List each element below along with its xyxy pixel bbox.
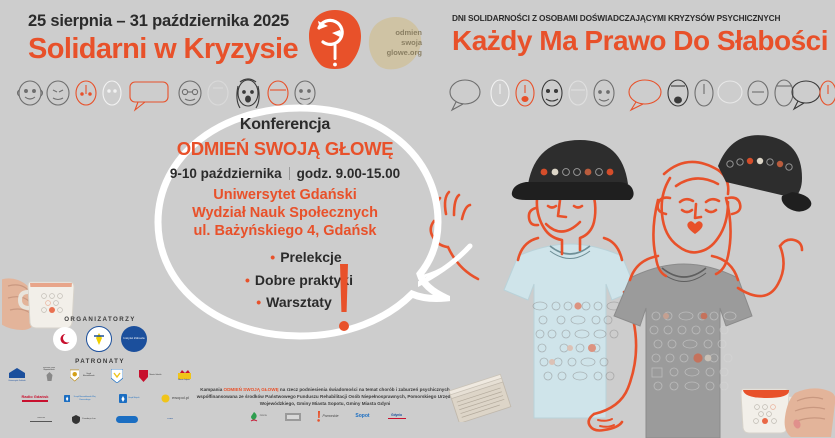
woman-head bbox=[630, 162, 740, 280]
patron-logo: ewopol.pl bbox=[160, 394, 190, 403]
list-item: Warsztaty bbox=[160, 291, 410, 314]
patron-logo: Urząd Miejski bbox=[112, 394, 146, 403]
funding-logo-text: Pomorskie bbox=[322, 415, 338, 419]
patron-logo: Urząd Marszałkowski bbox=[70, 367, 96, 384]
funding-logo-text: Gdynia bbox=[391, 414, 402, 418]
list-item: Dobre praktyki bbox=[160, 269, 410, 292]
bubble-kicker: Konferencja bbox=[160, 116, 410, 134]
underline bbox=[22, 400, 48, 402]
patron-logo-text: Urząd Miejski bbox=[128, 397, 139, 399]
logo-line-1: odmien bbox=[370, 28, 422, 38]
funding-part-1: Kampania bbox=[200, 387, 223, 392]
bubble-datetime: 9-10 października godz. 9.00-15.00 bbox=[160, 166, 410, 181]
campaign-dates: 25 sierpnia – 31 października 2025 bbox=[28, 12, 318, 31]
pill-shape bbox=[116, 416, 138, 423]
funding-logos: PFRON Pomorskie Sopot Gdynia bbox=[195, 410, 460, 423]
patron-logo-text: Uniwersytet Gdański bbox=[8, 380, 25, 382]
patrons-logos-row-3: Gazeta Fundacja Lux Portal bbox=[26, 415, 186, 424]
funding-logo: Sopot bbox=[352, 410, 374, 423]
header-slogan: Każdy Ma Prawo Do Słabości bbox=[452, 26, 830, 55]
funding-logo: Gdynia bbox=[385, 410, 409, 423]
patron-logo: Portal bbox=[155, 418, 185, 420]
funding-logo: PFRON bbox=[247, 410, 271, 423]
patron-logo: Uniwersytet Gdański bbox=[6, 367, 28, 384]
header-right: DNI SOLIDARNOŚCI Z OSOBAMI DOŚWIADCZAJĄC… bbox=[452, 13, 830, 55]
divider bbox=[289, 167, 290, 180]
patrons-logos-row-2: Radio Gdańsk Urząd Marszałkowski Woj. Po… bbox=[20, 394, 190, 403]
header-subtitle: DNI SOLIDARNOŚCI Z OSOBAMI DOŚWIADCZAJĄC… bbox=[452, 13, 830, 23]
venue-line-1: Uniwersytet Gdański bbox=[160, 187, 410, 205]
underline bbox=[30, 421, 52, 422]
exclamation-mark-icon bbox=[336, 262, 352, 334]
funding-highlight: ODMIEŃ SWOJĄ GŁOWĘ bbox=[224, 387, 279, 392]
funding-logo bbox=[282, 410, 304, 423]
funding-logo-text: PFRON bbox=[260, 415, 267, 417]
patron-logo: Miasto Gdynia bbox=[172, 367, 196, 384]
man-tshirt bbox=[504, 244, 636, 418]
venue-line-3: ul. Bażyńskiego 4, Gdańsk bbox=[160, 223, 410, 241]
patron-logo-text: ewopol.pl bbox=[172, 396, 189, 400]
patron-logo: Urząd Marszałkowski Woj. Pomorskiego bbox=[64, 394, 98, 403]
campaign-title: Solidarni w Kryzysie bbox=[28, 34, 318, 64]
header-left: 25 sierpnia – 31 października 2025 Solid… bbox=[28, 12, 318, 64]
bubble-venue: Uniwersytet Gdański Wydział Nauk Społecz… bbox=[160, 187, 410, 241]
bubble-time: godz. 9.00-15.00 bbox=[297, 166, 401, 181]
patron-logo-text: Miasto Gdynia bbox=[178, 380, 190, 382]
newspaper-photo bbox=[444, 370, 514, 422]
man-cap bbox=[512, 140, 634, 200]
list-item: Prelekcje bbox=[160, 246, 410, 269]
patron-logo: Miasto Gdańsk bbox=[138, 367, 162, 384]
patron-logo: Radio Gdańsk bbox=[20, 395, 50, 402]
logo-line-3: glowe.org bbox=[370, 48, 422, 58]
patron-logo-text: Gazeta bbox=[37, 417, 45, 420]
hand-holding-mug-right bbox=[735, 375, 835, 438]
patron-logo-text: Miasto Gdańsk bbox=[150, 375, 162, 377]
organizer-logo-text: Instytut Zdrowia bbox=[123, 337, 144, 340]
funding-statement: Kampania ODMIEŃ SWOJĄ GŁOWĘ na rzecz pod… bbox=[190, 386, 460, 407]
logo-line-2: swoja bbox=[370, 38, 422, 48]
patron-logo bbox=[113, 416, 141, 423]
poster-root: 25 sierpnia – 31 października 2025 Solid… bbox=[0, 0, 835, 438]
logo-url-text: odmien swoja glowe.org bbox=[370, 28, 422, 58]
bubble-date: 9-10 października bbox=[170, 166, 282, 181]
patron-logo: Rzecznik Praw Obywatelskich bbox=[38, 367, 60, 384]
woman-cap bbox=[718, 135, 811, 211]
patron-logo: Gazeta bbox=[27, 417, 55, 422]
venue-line-2: Wydział Nauk Społecznych bbox=[160, 205, 410, 223]
organizers-logos: Instytut Zdrowia bbox=[0, 326, 200, 352]
patron-logo: Fundacja Lux bbox=[69, 415, 99, 424]
patrons-label: PATRONATY bbox=[0, 358, 200, 365]
patron-logo-text: Urząd Marszałkowski bbox=[81, 374, 96, 378]
patrons-logos-row-1: Uniwersytet Gdański Rzecznik Praw Obywat… bbox=[6, 367, 196, 384]
patron-logo-text: Radio Gdańsk bbox=[22, 395, 49, 399]
bubble-content: Konferencja ODMIEŃ SWOJĄ GŁOWĘ 9-10 paźd… bbox=[160, 116, 410, 314]
organizer-logo bbox=[86, 326, 112, 352]
organizer-logo: Instytut Zdrowia bbox=[121, 326, 147, 352]
patron-logo-text: Urząd Marszałkowski Woj. Pomorskiego bbox=[72, 396, 98, 400]
funding-logo: Pomorskie bbox=[315, 410, 341, 423]
organizers-label: ORGANIZATORZY bbox=[0, 316, 200, 323]
bubble-program-list: Prelekcje Dobre praktyki Warsztaty bbox=[160, 246, 410, 314]
patron-logo-text: Fundacja Lux bbox=[82, 418, 95, 420]
underline bbox=[388, 418, 406, 419]
patron-logo-text: Portal bbox=[167, 418, 173, 420]
patron-logo bbox=[106, 367, 128, 384]
bubble-title: ODMIEŃ SWOJĄ GŁOWĘ bbox=[160, 138, 410, 160]
odmien-swoja-glowe-logo-icon bbox=[305, 8, 365, 70]
organizer-logo bbox=[53, 327, 77, 351]
funding-logo-text: Sopot bbox=[355, 414, 369, 420]
